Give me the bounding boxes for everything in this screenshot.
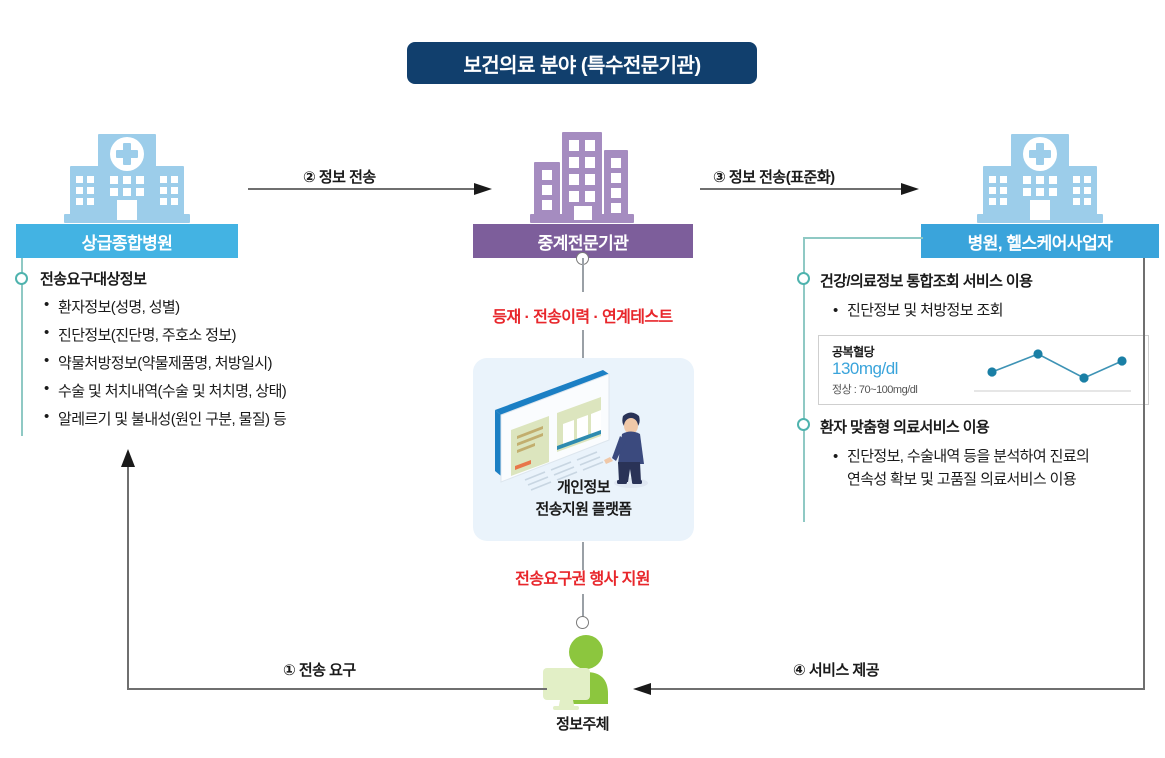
flow-arrow-1-vertical	[127, 455, 129, 690]
flow-label-3: ③ 정보 전송(표준화)	[713, 166, 835, 187]
left-panel-list: 환자정보(성명, 성별) 진단정보(진단명, 주호소 정보) 약물처방정보(약물…	[44, 296, 394, 436]
left-panel-heading: 전송요구대상정보	[40, 268, 146, 289]
flow-label-1: ① 전송 요구	[283, 659, 356, 680]
data-subject-label: 정보주체	[490, 713, 675, 734]
office-buildings-icon	[528, 128, 636, 226]
arrow-head-left-icon	[633, 681, 651, 697]
glucose-sparkline-chart	[970, 340, 1135, 398]
right-panel-bullet-2-line-2: 연속성 확보 및 고품질 의료서비스 이용	[847, 468, 1165, 491]
right-panel-bullet-1: 진단정보 및 처방정보 조회	[833, 299, 1003, 322]
left-connector-dot	[15, 272, 28, 285]
flow-arrow-4-vertical	[1143, 258, 1145, 690]
list-item: 진단정보(진단명, 주호소 정보)	[44, 324, 394, 345]
node-label-right-hospital: 병원, 헬스케어사업자	[921, 224, 1159, 258]
list-item: 알레르기 및 불내성(원인 구분, 물질) 등	[44, 408, 394, 429]
arrow-head-up-icon	[120, 449, 136, 467]
arrow-head-right-icon	[474, 181, 492, 197]
flow-arrow-1-horizontal	[127, 688, 547, 690]
center-red-text-top: 등재 · 전송이력 · 연계테스트	[470, 303, 695, 327]
platform-caption-line-2: 전송지원 플랫폼	[473, 499, 694, 521]
hospital-icon	[975, 128, 1105, 226]
list-item: 수술 및 처치내역(수술 및 처치명, 상태)	[44, 380, 394, 401]
flow-arrow-4-horizontal	[639, 688, 1145, 690]
node-label-left-hospital: 상급종합병원	[16, 224, 238, 258]
flow-arrow-2-line	[248, 188, 480, 190]
flow-label-2: ② 정보 전송	[303, 166, 376, 187]
right-panel-bullet-2: 진단정보, 수술내역 등을 분석하여 진료의 연속성 확보 및 고품질 의료서비…	[833, 445, 1165, 491]
hospital-icon	[62, 128, 192, 226]
center-connector-dot-bottom	[576, 616, 589, 629]
right-panel-heading-2: 환자 맞춤형 의료서비스 이용	[820, 416, 989, 437]
center-connector-line-a	[582, 258, 584, 292]
glucose-card-normal-range: 정상 : 70~100mg/dl	[832, 381, 917, 397]
glucose-card-label: 공복혈당	[832, 343, 874, 360]
right-connector-horizontal	[803, 237, 923, 239]
page-title-banner: 보건의료 분야 (특수전문기관)	[407, 42, 757, 84]
platform-caption: 개인정보 전송지원 플랫폼	[473, 477, 694, 521]
list-item: 약물처방정보(약물제품명, 처방일시)	[44, 352, 394, 373]
flow-label-4: ④ 서비스 제공	[793, 659, 879, 680]
arrow-head-right-icon	[901, 181, 919, 197]
right-connector-dot-2	[797, 418, 810, 431]
page-title: 보건의료 분야 (특수전문기관)	[463, 49, 700, 78]
glucose-card-value: 130mg/dl	[832, 359, 898, 379]
right-connector-dot-1	[797, 272, 810, 285]
center-connector-line-b	[582, 330, 584, 358]
list-item: 환자정보(성명, 성별)	[44, 296, 394, 317]
right-panel-heading-1: 건강/의료정보 통합조회 서비스 이용	[820, 270, 1032, 291]
right-panel-bullet-2-line-1: 진단정보, 수술내역 등을 분석하여 진료의	[847, 448, 1089, 465]
flow-arrow-3-line	[700, 188, 907, 190]
person-monitor-icon	[541, 634, 623, 710]
center-red-text-bottom: 전송요구권 행사 지원	[470, 565, 695, 589]
center-connector-line-d	[582, 594, 584, 618]
platform-caption-line-1: 개인정보	[473, 477, 694, 499]
